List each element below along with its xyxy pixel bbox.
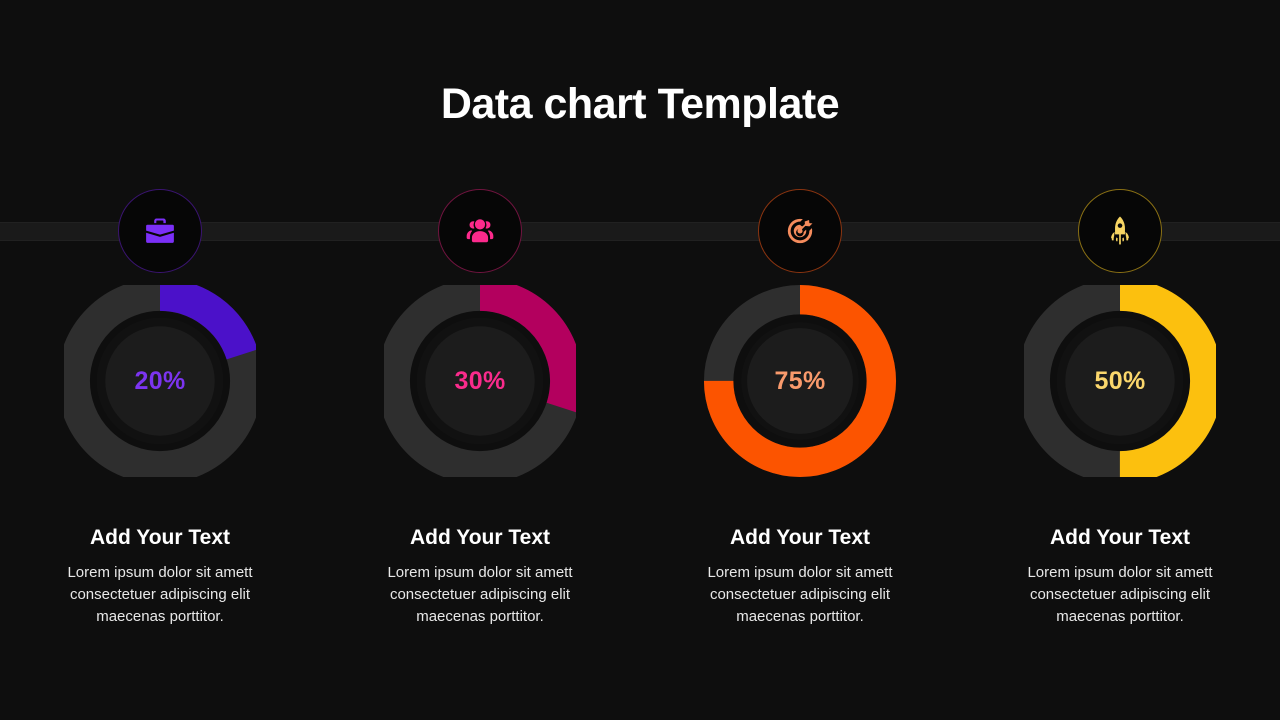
column-heading: Add Your Text <box>320 526 640 550</box>
column-heading: Add Your Text <box>0 526 320 550</box>
progress-donut[interactable]: 30% <box>384 285 576 477</box>
users-icon-badge[interactable] <box>438 189 522 273</box>
column-body-text: Lorem ipsum dolor sit amett consectetuer… <box>42 562 278 628</box>
page-title: Data chart Template <box>0 80 1280 129</box>
rocket-icon <box>1103 214 1137 248</box>
progress-value: 30% <box>384 285 576 477</box>
column-body-text: Lorem ipsum dolor sit amett consectetuer… <box>682 562 918 628</box>
briefcase-icon-badge[interactable] <box>118 189 202 273</box>
progress-value: 75% <box>702 283 898 479</box>
column-body-text: Lorem ipsum dolor sit amett consectetuer… <box>362 562 598 628</box>
column-heading: Add Your Text <box>640 526 960 550</box>
progress-value: 20% <box>64 285 256 477</box>
briefcase-icon <box>143 214 177 248</box>
rocket-icon-badge[interactable] <box>1078 189 1162 273</box>
progress-donut[interactable]: 20% <box>64 285 256 477</box>
column-heading: Add Your Text <box>960 526 1280 550</box>
slide-canvas: Data chart Template 20%Add Your TextLore… <box>0 0 1280 720</box>
progress-donut[interactable]: 50% <box>1024 285 1216 477</box>
users-icon <box>463 214 497 248</box>
target-icon-badge[interactable] <box>758 189 842 273</box>
progress-value: 50% <box>1024 285 1216 477</box>
target-icon <box>783 214 817 248</box>
progress-donut[interactable]: 75% <box>702 283 898 479</box>
column-body-text: Lorem ipsum dolor sit amett consectetuer… <box>1002 562 1238 628</box>
